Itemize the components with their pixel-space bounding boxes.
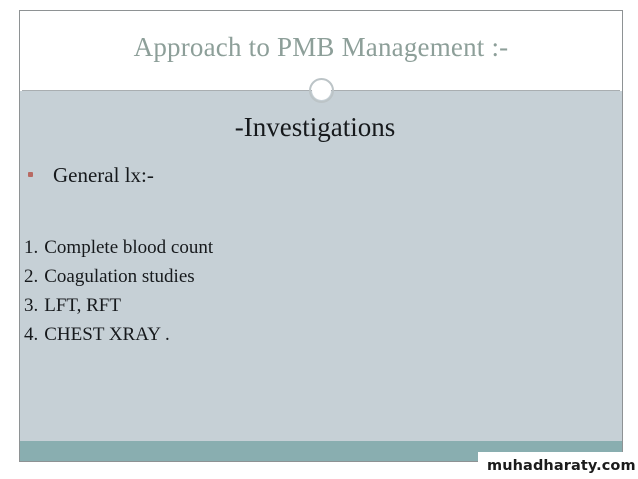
decorative-ring-icon xyxy=(309,78,334,103)
list-item: 3. LFT, RFT xyxy=(24,291,564,320)
list-item-number: 4. xyxy=(24,320,38,349)
list-item-label: Complete blood count xyxy=(44,233,213,262)
watermark-label: muhadharaty.com xyxy=(478,458,636,474)
list-item: 2. Coagulation studies xyxy=(24,262,564,291)
slide-body: -Investigations General lx:- 1. Complete… xyxy=(20,91,622,441)
list-item: 4. CHEST XRAY . xyxy=(24,320,564,349)
list-item-number: 3. xyxy=(24,291,38,320)
bullet-item-label: General lx:- xyxy=(53,163,154,188)
slide-frame: Approach to PMB Management :- -Investiga… xyxy=(19,10,623,462)
section-heading: -Investigations xyxy=(20,111,610,143)
list-item: 1. Complete blood count xyxy=(24,233,564,262)
list-item-label: LFT, RFT xyxy=(44,291,121,320)
list-item-label: Coagulation studies xyxy=(44,262,194,291)
bullet-list-item: General lx:- xyxy=(28,163,154,188)
list-item-number: 2. xyxy=(24,262,38,291)
list-item-label: CHEST XRAY . xyxy=(44,320,169,349)
bullet-dot-icon xyxy=(28,172,33,177)
watermark: muhadharaty.com xyxy=(478,452,638,479)
slide-root: Approach to PMB Management :- -Investiga… xyxy=(0,0,638,479)
list-item-number: 1. xyxy=(24,233,38,262)
page-title: Approach to PMB Management :- xyxy=(20,31,622,64)
numbered-list: 1. Complete blood count 2. Coagulation s… xyxy=(24,233,564,349)
